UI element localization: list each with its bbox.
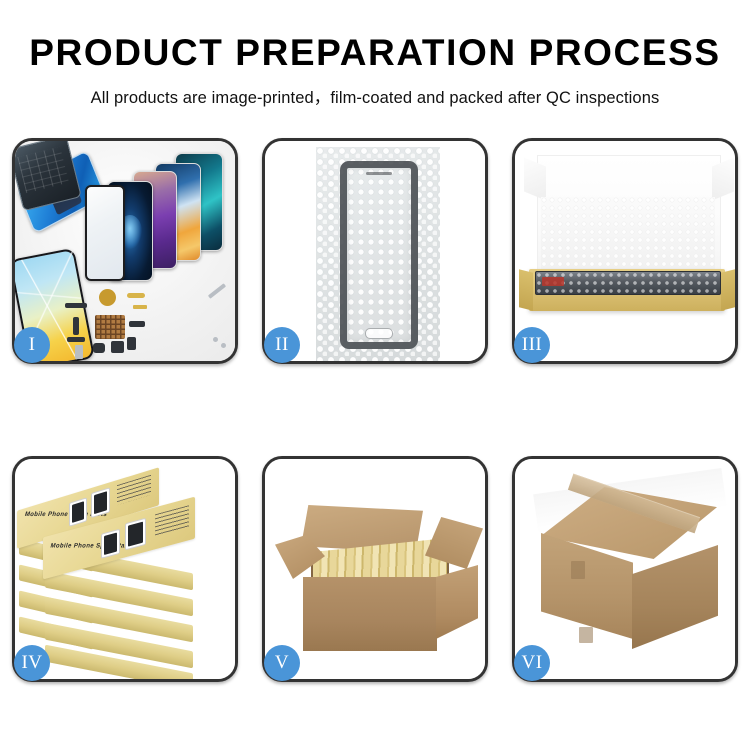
process-step-card-3: III (512, 138, 738, 364)
step-1-image (15, 141, 235, 361)
wrapped-screen (340, 161, 418, 349)
part-flex-cable-2 (133, 305, 147, 309)
step-6-image (515, 459, 735, 679)
part-connector (73, 317, 79, 335)
bubble-wrap-sheet (316, 147, 440, 361)
carton-patch-1 (571, 561, 585, 579)
step-4-image: Mobile Phone Spare Parts Mobile Phone Sp… (15, 459, 235, 679)
page-subtitle: All products are image-printed，film-coat… (0, 84, 750, 108)
packed-screen (535, 271, 721, 295)
part-screw-2 (221, 343, 226, 348)
step-3-image (515, 141, 735, 361)
carton-front-face (303, 577, 437, 651)
product-preparation-process-page: PRODUCT PREPARATION PROCESS All products… (0, 0, 750, 750)
sealed-carton-right-face (632, 545, 718, 649)
step-badge-4: IV (14, 645, 50, 681)
part-bar (65, 303, 87, 308)
process-step-card-2: II (262, 138, 488, 364)
part-sim-tray (75, 345, 83, 359)
page-header: PRODUCT PREPARATION PROCESS All products… (0, 34, 750, 108)
box-thumb-1 (69, 497, 87, 527)
box-spec-lines-back (117, 475, 151, 505)
carton-patch-2 (579, 627, 593, 643)
part-screw-1 (213, 337, 218, 342)
process-step-card-6: VI (512, 456, 738, 682)
box-stack: Mobile Phone Spare Parts Mobile Phone Sp… (15, 459, 235, 679)
part-flex-cable (127, 293, 145, 298)
process-step-card-4: Mobile Phone Spare Parts Mobile Phone Sp… (12, 456, 238, 682)
white-glass-panel (85, 185, 125, 281)
process-step-card-5: V (262, 456, 488, 682)
part-button (93, 343, 105, 353)
part-strip (67, 337, 85, 342)
part-sensor (127, 337, 136, 350)
box-thumb-3 (101, 529, 120, 559)
step-badge-1: I (14, 327, 50, 363)
box-thumb-4 (125, 518, 146, 551)
process-steps-grid: I II III (12, 138, 738, 682)
earpiece-slot (366, 172, 392, 175)
part-chip-array (95, 315, 125, 339)
box-label-text-front: Mobile Phone Spare Parts (50, 542, 135, 549)
page-title: PRODUCT PREPARATION PROCESS (0, 34, 750, 71)
box-spec-lines-front (155, 505, 189, 536)
part-camera-module (111, 341, 124, 353)
step-badge-6: VI (514, 645, 550, 681)
foam-padding (541, 197, 715, 275)
carton-side-face (436, 565, 478, 639)
step-badge-2: II (264, 327, 300, 363)
part-speaker-coil (99, 289, 116, 306)
part-ribbon (129, 321, 145, 327)
step-badge-3: III (514, 327, 550, 363)
home-button (365, 328, 393, 339)
step-badge-5: V (264, 645, 300, 681)
process-step-card-1: I (12, 138, 238, 364)
step-5-image (265, 459, 485, 679)
step-2-image (265, 141, 485, 361)
